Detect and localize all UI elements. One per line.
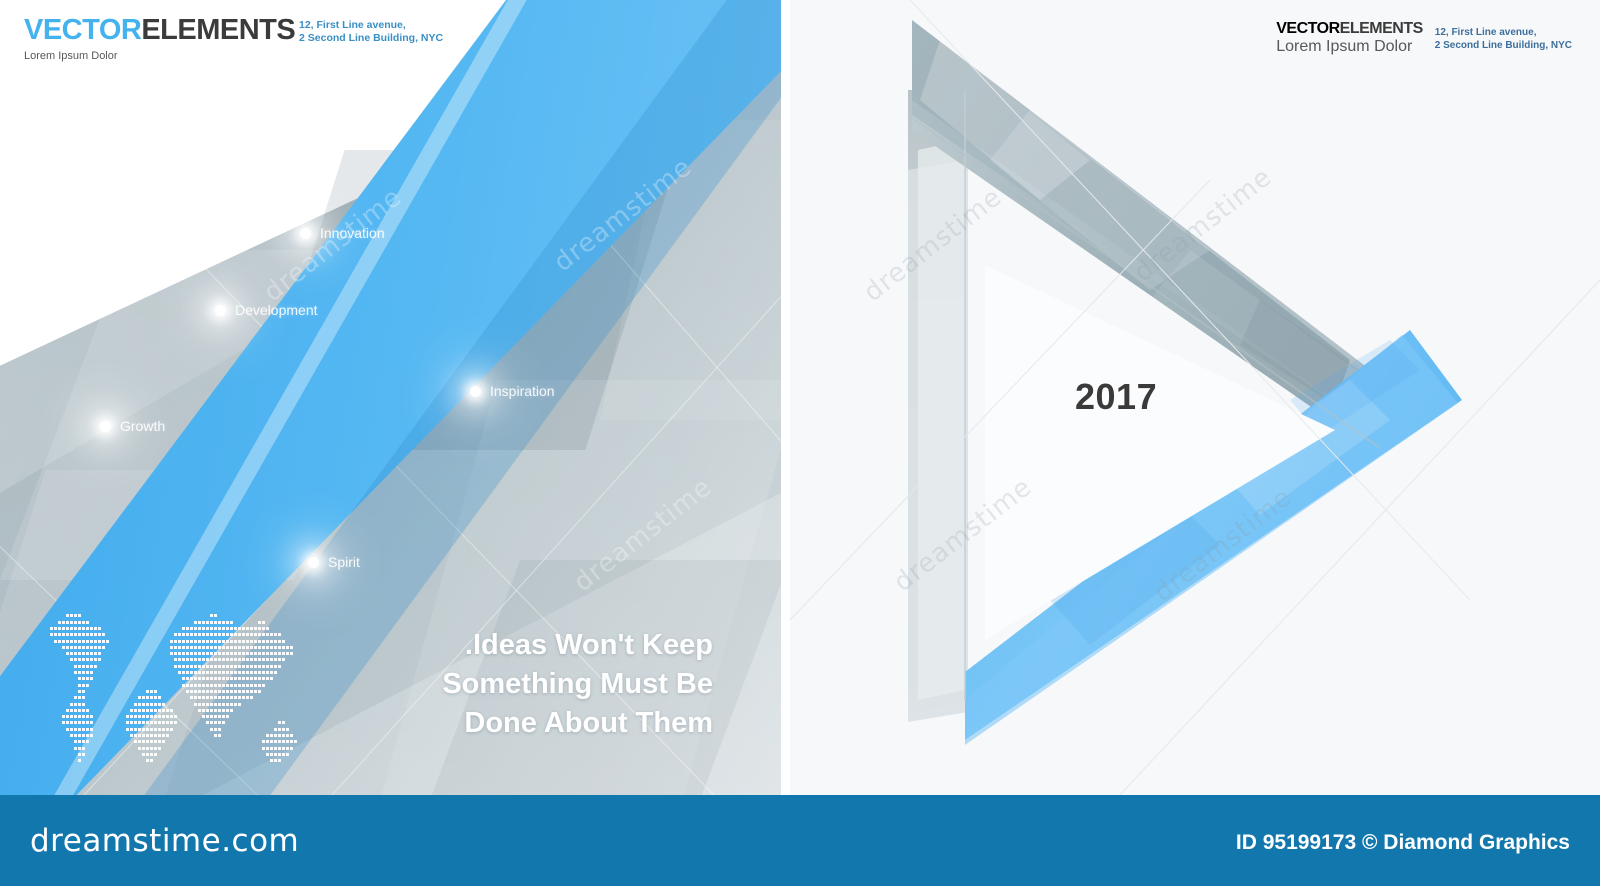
map-dot xyxy=(222,646,225,649)
map-dot xyxy=(262,621,265,624)
map-dot xyxy=(186,665,189,668)
map-dot xyxy=(210,627,213,630)
map-dot xyxy=(254,633,257,636)
map-dot xyxy=(206,677,209,680)
map-dot xyxy=(94,640,97,643)
map-dot xyxy=(82,696,85,699)
map-dot xyxy=(214,715,217,718)
map-dot xyxy=(82,703,85,706)
map-dot xyxy=(242,646,245,649)
map-dot xyxy=(82,747,85,750)
map-dot xyxy=(222,684,225,687)
map-dot xyxy=(150,728,153,731)
headline-line-3: Done About Them xyxy=(442,704,713,743)
map-dot xyxy=(78,652,81,655)
map-dot xyxy=(202,703,205,706)
glow-dot-icon xyxy=(215,305,226,316)
map-dot xyxy=(238,633,241,636)
map-dot xyxy=(214,652,217,655)
map-dot xyxy=(222,715,225,718)
map-dot xyxy=(234,627,237,630)
map-dot xyxy=(154,715,157,718)
map-dot xyxy=(270,671,273,674)
map-dot xyxy=(90,721,93,724)
map-dot xyxy=(82,665,85,668)
map-dot xyxy=(230,633,233,636)
map-dot xyxy=(226,646,229,649)
map-dot xyxy=(258,671,261,674)
map-dot xyxy=(82,633,85,636)
map-dot xyxy=(78,690,81,693)
map-dot xyxy=(234,671,237,674)
left-address-line-1: 12, First Line avenue, xyxy=(299,19,443,32)
map-dot xyxy=(142,703,145,706)
map-dot xyxy=(90,715,93,718)
map-dot xyxy=(202,652,205,655)
map-dot xyxy=(90,640,93,643)
map-dot xyxy=(214,658,217,661)
map-dot xyxy=(146,715,149,718)
map-dot xyxy=(254,690,257,693)
map-dot xyxy=(198,633,201,636)
right-brand-address: 12, First Line avenue, 2 Second Line Bui… xyxy=(1435,20,1572,52)
map-dot xyxy=(190,646,193,649)
map-dot xyxy=(78,728,81,731)
map-dot xyxy=(62,640,65,643)
map-dot xyxy=(78,721,81,724)
map-dot xyxy=(146,753,149,756)
map-dot xyxy=(138,721,141,724)
map-dot xyxy=(274,747,277,750)
map-dot xyxy=(142,715,145,718)
headline: .Ideas Won't Keep Something Must Be Done… xyxy=(442,626,713,743)
map-dot xyxy=(286,740,289,743)
map-dot xyxy=(206,690,209,693)
map-dot xyxy=(226,652,229,655)
map-dot xyxy=(210,721,213,724)
map-dot xyxy=(74,614,77,617)
map-dot xyxy=(278,740,281,743)
map-dot xyxy=(210,614,213,617)
map-dot xyxy=(154,696,157,699)
map-dot xyxy=(62,715,65,718)
map-dot xyxy=(234,677,237,680)
map-dot xyxy=(222,621,225,624)
map-dot xyxy=(182,658,185,661)
map-dot xyxy=(234,658,237,661)
map-dot xyxy=(230,665,233,668)
map-dot xyxy=(198,677,201,680)
map-dot xyxy=(74,696,77,699)
map-dot xyxy=(258,677,261,680)
map-dot xyxy=(266,747,269,750)
map-dot xyxy=(86,728,89,731)
map-dot xyxy=(242,633,245,636)
map-dot xyxy=(230,671,233,674)
map-dot xyxy=(78,747,81,750)
map-dot xyxy=(278,747,281,750)
map-dot xyxy=(78,646,81,649)
map-dot xyxy=(278,658,281,661)
map-dot xyxy=(270,665,273,668)
map-dot xyxy=(78,614,81,617)
map-dot xyxy=(190,627,193,630)
map-dot xyxy=(194,677,197,680)
map-dot xyxy=(222,703,225,706)
map-dot xyxy=(262,665,265,668)
map-dot xyxy=(198,703,201,706)
map-dot xyxy=(90,734,93,737)
map-dot xyxy=(218,658,221,661)
map-dot xyxy=(66,721,69,724)
map-dot xyxy=(186,646,189,649)
map-dot xyxy=(270,677,273,680)
map-dot xyxy=(74,652,77,655)
map-dot xyxy=(206,633,209,636)
map-dot xyxy=(90,728,93,731)
map-dot xyxy=(58,621,61,624)
map-dot xyxy=(78,759,81,762)
right-brand-word-primary: VECTOR xyxy=(1276,20,1339,37)
map-dot xyxy=(282,652,285,655)
map-dot xyxy=(190,640,193,643)
map-dot xyxy=(150,734,153,737)
map-dot xyxy=(74,646,77,649)
map-dot xyxy=(294,740,297,743)
map-dot xyxy=(154,753,157,756)
dreamstime-logo: dreamstime.com xyxy=(30,823,299,859)
map-dot xyxy=(90,627,93,630)
map-dot xyxy=(266,646,269,649)
map-dot xyxy=(166,709,169,712)
map-dot xyxy=(78,621,81,624)
map-dot xyxy=(238,684,241,687)
left-brand-header: VECTORELEMENTS Lorem Ipsum Dolor 12, Fir… xyxy=(24,14,295,62)
map-dot xyxy=(174,640,177,643)
map-dot xyxy=(170,721,173,724)
map-dot xyxy=(226,690,229,693)
map-dot xyxy=(218,703,221,706)
map-dot xyxy=(194,652,197,655)
map-dot xyxy=(258,633,261,636)
map-dot xyxy=(194,703,197,706)
map-dot xyxy=(250,665,253,668)
map-dot xyxy=(262,740,265,743)
map-dot xyxy=(250,696,253,699)
map-dot xyxy=(138,703,141,706)
map-dot xyxy=(262,658,265,661)
map-dot xyxy=(266,633,269,636)
map-dot xyxy=(214,640,217,643)
map-dot xyxy=(274,658,277,661)
map-dot xyxy=(182,671,185,674)
map-dot xyxy=(138,734,141,737)
map-dot xyxy=(266,677,269,680)
map-dot xyxy=(186,684,189,687)
map-dot xyxy=(210,621,213,624)
map-dot xyxy=(246,627,249,630)
map-dot xyxy=(146,696,149,699)
map-dot xyxy=(186,633,189,636)
map-dot xyxy=(126,715,129,718)
map-dot xyxy=(226,684,229,687)
map-dot xyxy=(146,690,149,693)
map-dot xyxy=(86,677,89,680)
map-dot xyxy=(102,646,105,649)
map-dot xyxy=(258,627,261,630)
map-dot xyxy=(286,652,289,655)
map-dot xyxy=(238,652,241,655)
map-dot xyxy=(86,734,89,737)
map-dot xyxy=(274,652,277,655)
map-dot xyxy=(230,627,233,630)
map-dot xyxy=(158,703,161,706)
map-dot xyxy=(278,640,281,643)
map-dot xyxy=(274,646,277,649)
map-dot xyxy=(262,747,265,750)
map-dot xyxy=(150,759,153,762)
map-dot xyxy=(214,728,217,731)
map-dot xyxy=(246,640,249,643)
map-dot xyxy=(210,703,213,706)
map-dot xyxy=(170,646,173,649)
map-dot xyxy=(94,627,97,630)
map-dot xyxy=(150,740,153,743)
map-dot xyxy=(146,728,149,731)
map-dot xyxy=(170,652,173,655)
map-dot xyxy=(226,709,229,712)
map-dot xyxy=(250,671,253,674)
map-dot xyxy=(90,665,93,668)
map-dot xyxy=(138,740,141,743)
map-dot xyxy=(78,658,81,661)
map-dot xyxy=(286,728,289,731)
map-dot xyxy=(198,646,201,649)
map-dot xyxy=(250,646,253,649)
map-dot xyxy=(134,715,137,718)
map-dot xyxy=(278,728,281,731)
map-dot xyxy=(214,671,217,674)
map-dot xyxy=(82,621,85,624)
map-dot xyxy=(182,627,185,630)
map-dot xyxy=(90,646,93,649)
map-dot xyxy=(70,640,73,643)
map-dot xyxy=(82,734,85,737)
map-dot xyxy=(214,646,217,649)
map-dot xyxy=(74,734,77,737)
map-dot xyxy=(66,715,69,718)
map-dot xyxy=(186,658,189,661)
map-dot xyxy=(94,658,97,661)
map-dot xyxy=(190,690,193,693)
map-dot xyxy=(82,709,85,712)
map-dot xyxy=(194,621,197,624)
map-dot xyxy=(206,709,209,712)
map-dot xyxy=(214,703,217,706)
dreamstime-footer-bar: dreamstime.com ID 95199173 © Diamond Gra… xyxy=(0,795,1600,886)
map-dot xyxy=(214,621,217,624)
glow-dot-icon xyxy=(100,421,111,432)
map-dot xyxy=(154,728,157,731)
map-dot xyxy=(98,627,101,630)
map-dot xyxy=(150,690,153,693)
map-dot xyxy=(262,633,265,636)
map-dot xyxy=(282,658,285,661)
map-dot xyxy=(210,677,213,680)
map-dot xyxy=(66,621,69,624)
map-dot xyxy=(178,665,181,668)
map-dot xyxy=(218,715,221,718)
map-dot xyxy=(250,677,253,680)
map-dot xyxy=(226,621,229,624)
map-dot xyxy=(278,753,281,756)
map-dot xyxy=(202,646,205,649)
map-dot xyxy=(266,652,269,655)
map-dot xyxy=(198,696,201,699)
left-cover-design: VECTORELEMENTS Lorem Ipsum Dolor 12, Fir… xyxy=(0,0,781,795)
map-dot xyxy=(210,652,213,655)
map-dot xyxy=(254,671,257,674)
map-dot xyxy=(218,665,221,668)
map-dot xyxy=(246,677,249,680)
map-dot xyxy=(82,740,85,743)
right-brand-title: VECTORELEMENTS xyxy=(1276,20,1423,38)
map-dot xyxy=(66,652,69,655)
map-dot xyxy=(210,690,213,693)
map-dot xyxy=(178,658,181,661)
map-dot xyxy=(206,665,209,668)
map-dot xyxy=(226,658,229,661)
map-dot xyxy=(158,740,161,743)
map-dot xyxy=(242,665,245,668)
map-dot xyxy=(98,652,101,655)
map-dot xyxy=(214,633,217,636)
year-label: 2017 xyxy=(1075,376,1157,418)
map-dot xyxy=(250,652,253,655)
map-dot xyxy=(218,684,221,687)
map-dot xyxy=(190,665,193,668)
map-dot xyxy=(158,747,161,750)
map-dot xyxy=(190,658,193,661)
map-dot xyxy=(70,614,73,617)
map-dot xyxy=(230,621,233,624)
map-dot xyxy=(162,721,165,724)
map-dot xyxy=(246,646,249,649)
map-dot xyxy=(210,658,213,661)
map-dot xyxy=(226,677,229,680)
map-dot xyxy=(74,709,77,712)
map-dot xyxy=(250,684,253,687)
map-dot xyxy=(270,646,273,649)
map-dot xyxy=(234,665,237,668)
map-dot xyxy=(74,658,77,661)
map-dot xyxy=(66,640,69,643)
map-dot xyxy=(238,703,241,706)
map-dot xyxy=(66,614,69,617)
map-dot xyxy=(234,703,237,706)
map-dot xyxy=(270,759,273,762)
map-dot xyxy=(50,633,53,636)
map-dot xyxy=(70,703,73,706)
left-address-line-2: 2 Second Line Building, NYC xyxy=(299,32,443,45)
map-dot xyxy=(206,652,209,655)
map-dot xyxy=(150,709,153,712)
map-dot xyxy=(138,715,141,718)
map-dot xyxy=(206,684,209,687)
map-dot xyxy=(178,671,181,674)
map-dot xyxy=(142,753,145,756)
map-dot xyxy=(226,671,229,674)
map-dot xyxy=(198,627,201,630)
map-dot xyxy=(70,734,73,737)
map-dot xyxy=(258,621,261,624)
map-dot xyxy=(238,696,241,699)
map-dot xyxy=(170,709,173,712)
map-dot xyxy=(282,747,285,750)
map-dot xyxy=(234,633,237,636)
map-dot xyxy=(222,627,225,630)
map-dot xyxy=(170,728,173,731)
map-dot xyxy=(238,671,241,674)
headline-line-2: Something Must Be xyxy=(442,665,713,704)
map-dot xyxy=(210,715,213,718)
map-dot xyxy=(270,753,273,756)
node-label: Innovation xyxy=(320,225,385,241)
map-dot xyxy=(238,646,241,649)
map-dot xyxy=(202,690,205,693)
map-dot xyxy=(266,640,269,643)
map-dot xyxy=(90,658,93,661)
map-dot xyxy=(94,633,97,636)
map-dot xyxy=(78,696,81,699)
map-dot xyxy=(242,684,245,687)
map-dot xyxy=(90,671,93,674)
map-dot xyxy=(130,734,133,737)
map-dot xyxy=(154,703,157,706)
map-dot xyxy=(274,671,277,674)
map-dot xyxy=(210,728,213,731)
map-dot xyxy=(198,690,201,693)
map-dot xyxy=(230,684,233,687)
map-dot xyxy=(246,696,249,699)
map-dot xyxy=(202,633,205,636)
map-dot xyxy=(70,627,73,630)
map-dot xyxy=(74,671,77,674)
node-label: Growth xyxy=(120,418,165,434)
map-dot xyxy=(74,728,77,731)
map-dot xyxy=(158,709,161,712)
map-dot xyxy=(274,665,277,668)
map-dot xyxy=(242,677,245,680)
map-dot xyxy=(262,640,265,643)
map-dot xyxy=(254,658,257,661)
map-dot xyxy=(198,671,201,674)
map-dot xyxy=(70,652,73,655)
map-dot xyxy=(82,684,85,687)
map-dot xyxy=(286,734,289,737)
map-dot xyxy=(82,646,85,649)
map-dot xyxy=(242,690,245,693)
map-dot xyxy=(198,652,201,655)
map-dot xyxy=(130,715,133,718)
map-dot xyxy=(82,671,85,674)
map-dot xyxy=(158,721,161,724)
map-dot xyxy=(62,721,65,724)
map-dot xyxy=(194,696,197,699)
map-dot xyxy=(210,696,213,699)
map-dot xyxy=(198,684,201,687)
map-dot xyxy=(86,621,89,624)
